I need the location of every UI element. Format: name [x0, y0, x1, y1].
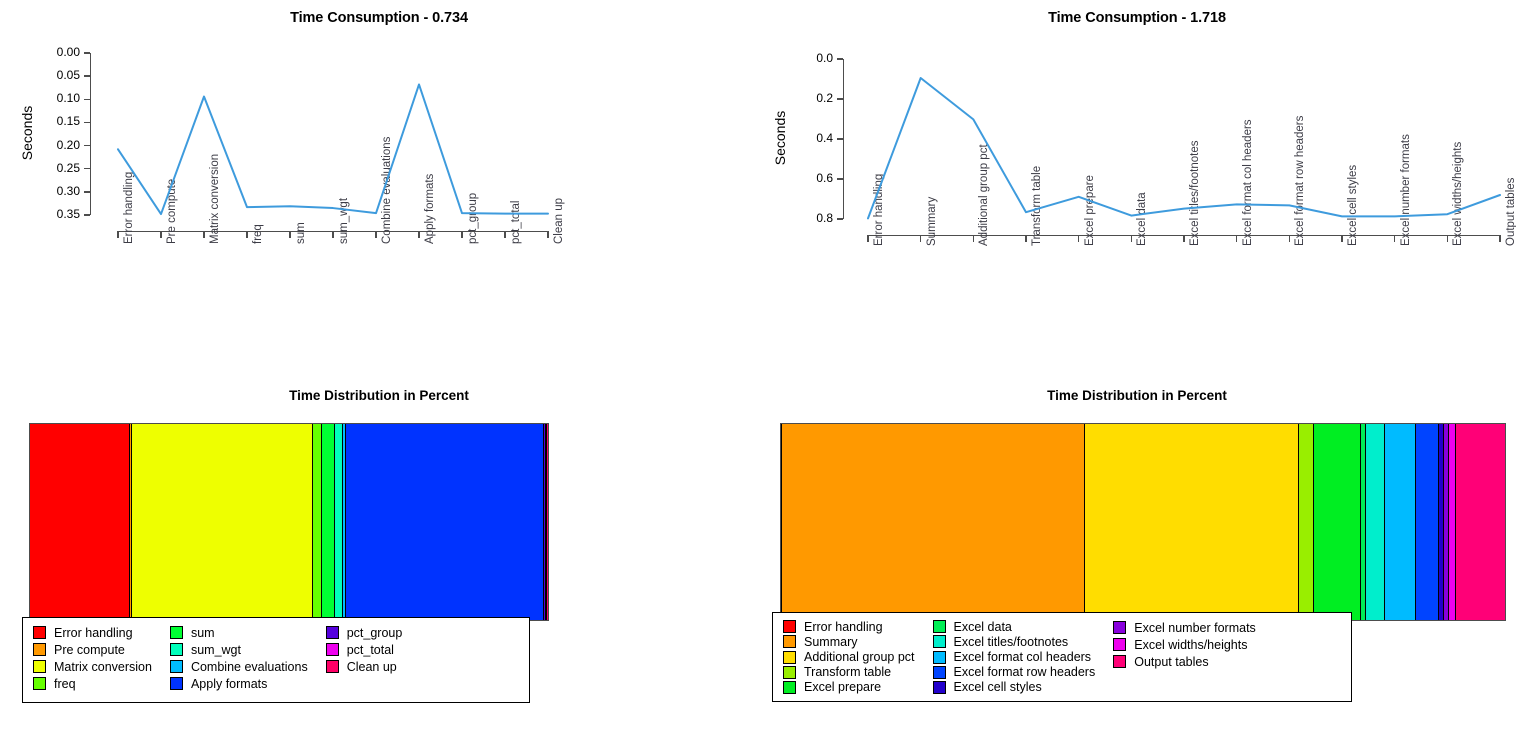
legend-item[interactable]: Excel widths/heights: [1113, 636, 1256, 653]
legend-label: Apply formats: [191, 677, 267, 691]
stack-segment: [1456, 424, 1505, 620]
left-stacked-bar: [29, 423, 549, 621]
left-line-area-series-line: [0, 0, 758, 380]
stack-segment: [132, 424, 313, 620]
legend-swatch-icon: [933, 620, 946, 633]
legend-item[interactable]: Combine evaluations: [170, 658, 308, 675]
legend-label: Pre compute: [54, 643, 125, 657]
legend-label: Additional group pct: [804, 650, 915, 664]
legend-item[interactable]: pct_total: [326, 641, 403, 658]
stack-segment: [322, 424, 335, 620]
legend-label: sum: [191, 626, 215, 640]
legend-column: Error handlingPre computeMatrix conversi…: [33, 624, 152, 696]
legend-swatch-icon: [326, 660, 339, 673]
stack-segment: [335, 424, 342, 620]
legend-column: pct_grouppct_totalClean up: [326, 624, 403, 696]
legend-label: Error handling: [804, 620, 883, 634]
left-line-chart: Seconds0.350.300.250.200.150.100.050.00E…: [0, 0, 758, 380]
legend-item[interactable]: Pre compute: [33, 641, 152, 658]
stack-segment: [782, 424, 1085, 620]
legend-item[interactable]: Clean up: [326, 658, 403, 675]
legend-label: Matrix conversion: [54, 660, 152, 674]
legend-label: Summary: [804, 635, 857, 649]
legend-swatch-icon: [170, 660, 183, 673]
legend-swatch-icon: [326, 643, 339, 656]
stack-segment: [547, 424, 548, 620]
legend-item[interactable]: Error handling: [783, 619, 915, 634]
legend-swatch-icon: [933, 651, 946, 664]
legend-swatch-icon: [170, 677, 183, 690]
legend-item[interactable]: Excel format col headers: [933, 649, 1096, 664]
legend-swatch-icon: [33, 660, 46, 673]
legend-item[interactable]: Excel data: [933, 619, 1096, 634]
legend-label: Excel prepare: [804, 680, 881, 694]
legend-item[interactable]: Output tables: [1113, 653, 1256, 670]
stack-segment: [1416, 424, 1440, 620]
legend-item[interactable]: Apply formats: [170, 675, 308, 692]
right-line-chart: Seconds0.80.60.40.20.0Error handlingSumm…: [758, 0, 1516, 380]
legend-item[interactable]: Transform table: [783, 665, 915, 680]
legend-label: pct_group: [347, 626, 403, 640]
stack-segment: [1449, 424, 1456, 620]
legend-label: Clean up: [347, 660, 397, 674]
legend-swatch-icon: [783, 681, 796, 694]
legend-column: Excel dataExcel titles/footnotesExcel fo…: [933, 619, 1096, 695]
legend-swatch-icon: [783, 620, 796, 633]
stack-segment: [346, 424, 545, 620]
left-legend: Error handlingPre computeMatrix conversi…: [22, 617, 530, 703]
legend-swatch-icon: [170, 643, 183, 656]
legend-label: Excel data: [954, 620, 1012, 634]
stack-segment: [1299, 424, 1314, 620]
right-panel: Time Consumption - 1.718 Seconds0.80.60.…: [758, 0, 1516, 744]
legend-label: Excel widths/heights: [1134, 638, 1247, 652]
legend-item[interactable]: sum_wgt: [170, 641, 308, 658]
legend-item[interactable]: Excel prepare: [783, 680, 915, 695]
legend-swatch-icon: [33, 643, 46, 656]
legend-swatch-icon: [33, 626, 46, 639]
legend-swatch-icon: [783, 635, 796, 648]
legend-swatch-icon: [783, 651, 796, 664]
legend-swatch-icon: [326, 626, 339, 639]
legend-swatch-icon: [33, 677, 46, 690]
legend-column: sumsum_wgtCombine evaluationsApply forma…: [170, 624, 308, 696]
legend-label: Transform table: [804, 665, 891, 679]
legend-item[interactable]: Summary: [783, 634, 915, 649]
left-panel: Time Consumption - 0.734 Seconds0.350.30…: [0, 0, 758, 744]
right-line-area-series-line: [758, 0, 1516, 380]
legend-item[interactable]: freq: [33, 675, 152, 692]
legend-label: Error handling: [54, 626, 133, 640]
legend-label: pct_total: [347, 643, 394, 657]
legend-swatch-icon: [170, 626, 183, 639]
legend-item[interactable]: Matrix conversion: [33, 658, 152, 675]
legend-label: freq: [54, 677, 76, 691]
stack-segment: [30, 424, 130, 620]
legend-item[interactable]: Excel number formats: [1113, 619, 1256, 636]
legend-item[interactable]: sum: [170, 624, 308, 641]
legend-item[interactable]: Excel format row headers: [933, 665, 1096, 680]
legend-label: sum_wgt: [191, 643, 241, 657]
stack-segment: [1085, 424, 1299, 620]
legend-column: Excel number formatsExcel widths/heights…: [1113, 619, 1256, 695]
legend-label: Excel format row headers: [954, 665, 1096, 679]
legend-swatch-icon: [933, 666, 946, 679]
legend-label: Excel number formats: [1134, 621, 1256, 635]
legend-label: Excel cell styles: [954, 680, 1042, 694]
legend-swatch-icon: [933, 635, 946, 648]
legend-label: Excel titles/footnotes: [954, 635, 1069, 649]
legend-label: Combine evaluations: [191, 660, 308, 674]
legend-label: Excel format col headers: [954, 650, 1092, 664]
legend-item[interactable]: pct_group: [326, 624, 403, 641]
legend-swatch-icon: [933, 681, 946, 694]
legend-item[interactable]: Additional group pct: [783, 649, 915, 664]
legend-swatch-icon: [1113, 638, 1126, 651]
legend-item[interactable]: Error handling: [33, 624, 152, 641]
legend-item[interactable]: Excel titles/footnotes: [933, 634, 1096, 649]
right-legend: Error handlingSummaryAdditional group pc…: [772, 612, 1352, 702]
stack-segment: [1366, 424, 1384, 620]
right-stacked-bar: [780, 423, 1506, 621]
legend-swatch-icon: [1113, 655, 1126, 668]
left-dist-title: Time Distribution in Percent: [0, 388, 758, 403]
legend-label: Output tables: [1134, 655, 1208, 669]
right-dist-title: Time Distribution in Percent: [758, 388, 1516, 403]
stack-segment: [1385, 424, 1416, 620]
legend-column: Error handlingSummaryAdditional group pc…: [783, 619, 915, 695]
legend-swatch-icon: [783, 666, 796, 679]
stack-segment: [1314, 424, 1361, 620]
legend-swatch-icon: [1113, 621, 1126, 634]
legend-item[interactable]: Excel cell styles: [933, 680, 1096, 695]
stack-segment: [313, 424, 322, 620]
